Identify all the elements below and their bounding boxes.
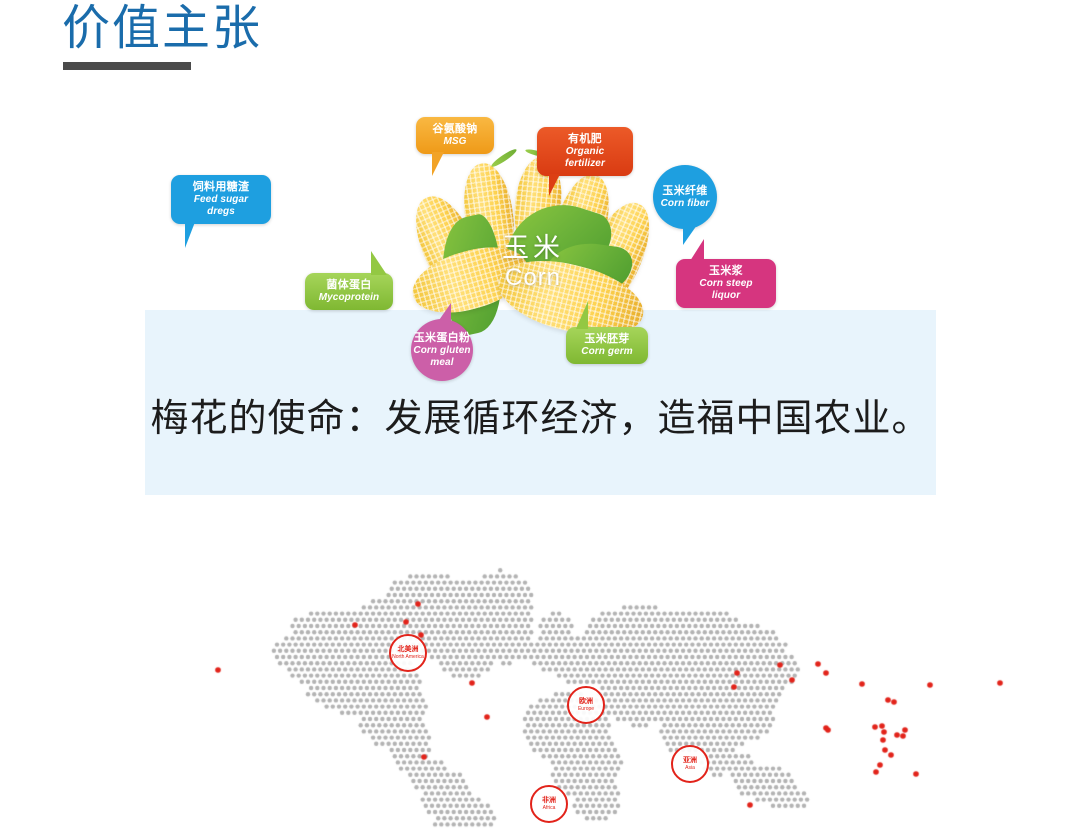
bubble-label-en: Corn germ xyxy=(575,346,639,358)
bubble-label-cn: 玉米浆 xyxy=(685,265,767,278)
region-label-en: North America xyxy=(392,654,424,660)
mission-statement: 梅花的使命：发展循环经济，造福中国农业。 xyxy=(145,395,936,443)
bubble-label-cn: 玉米纤维 xyxy=(662,185,707,198)
region-label-en: Africa xyxy=(543,805,556,811)
product-bubble-mycoprotein[interactable]: 菌体蛋白 Mycoprotein xyxy=(305,273,393,310)
product-bubble-feed-sugar-dregs[interactable]: 饲料用糖渣 Feed sugar dregs xyxy=(171,175,271,224)
corn-value-chain-infographic: 玉米 Corn 饲料用糖渣 Feed sugar dregs 谷氨酸钠 MSG … xyxy=(145,95,936,495)
product-bubble-msg[interactable]: 谷氨酸钠 MSG xyxy=(416,117,494,154)
region-label-cn: 欧洲 xyxy=(579,698,593,706)
bubble-label-en: Organic fertilizer xyxy=(546,146,624,170)
bubble-tail-icon xyxy=(576,301,588,329)
bubble-label-cn: 玉米胚芽 xyxy=(575,333,639,346)
product-bubble-corn-gluten-meal[interactable]: 玉米蛋白粉 Corn gluten meal xyxy=(411,319,473,381)
page-title: 价值主张 xyxy=(62,0,262,60)
bubble-label-en: Mycoprotein xyxy=(314,292,384,304)
corn-silk xyxy=(490,147,518,169)
bubble-label-en: Corn fiber xyxy=(661,198,710,210)
bubble-label-cn: 菌体蛋白 xyxy=(314,279,384,292)
bubble-label-cn: 谷氨酸钠 xyxy=(425,123,485,136)
map-region-label-africa[interactable]: 非洲 Africa xyxy=(530,785,568,823)
region-label-en: Asia xyxy=(685,765,695,771)
map-region-label-north-america[interactable]: 北美洲 North America xyxy=(389,634,427,672)
map-region-label-europe[interactable]: 欧洲 Europe xyxy=(567,686,605,724)
bubble-tail-icon xyxy=(432,152,444,176)
bubble-label-en: MSG xyxy=(425,136,485,148)
bubble-label-cn: 有机肥 xyxy=(546,133,624,146)
region-label-cn: 非洲 xyxy=(542,797,556,805)
bubble-tail-icon xyxy=(437,303,451,323)
bubble-tail-icon xyxy=(690,239,704,261)
bubble-tail-icon xyxy=(371,251,387,275)
product-bubble-corn-germ[interactable]: 玉米胚芽 Corn germ xyxy=(566,327,648,364)
region-label-cn: 北美洲 xyxy=(398,646,419,654)
product-bubble-organic-fertilizer[interactable]: 有机肥 Organic fertilizer xyxy=(537,127,633,176)
bubble-tail-icon xyxy=(185,222,195,248)
title-underline-rule xyxy=(63,62,191,70)
bubble-label-cn: 饲料用糖渣 xyxy=(180,181,262,194)
product-bubble-corn-fiber[interactable]: 玉米纤维 Corn fiber xyxy=(653,165,717,229)
region-label-cn: 亚洲 xyxy=(683,757,697,765)
bubble-label-en: Corn steep liquor xyxy=(685,278,767,302)
bubble-label-en: Corn gluten meal xyxy=(411,345,473,369)
world-map-section: 北美洲 North America 欧洲 Europe 亚洲 Asia 非洲 A… xyxy=(0,560,1080,828)
map-region-label-asia[interactable]: 亚洲 Asia xyxy=(671,745,709,783)
product-bubble-corn-steep-liquor[interactable]: 玉米浆 Corn steep liquor xyxy=(676,259,776,308)
bubble-label-cn: 玉米蛋白粉 xyxy=(414,332,471,345)
bubble-tail-icon xyxy=(549,174,560,196)
region-label-en: Europe xyxy=(578,706,594,712)
bubble-label-en: Feed sugar dregs xyxy=(180,194,262,218)
